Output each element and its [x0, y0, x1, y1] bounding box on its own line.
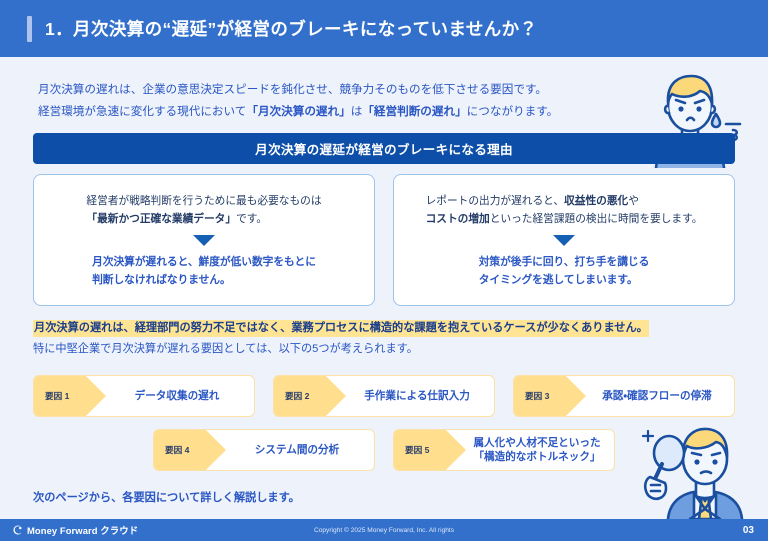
factor-label-2: 手作業による仕訳入力: [346, 389, 494, 403]
factor-item-2[interactable]: 要因 2 手作業による仕訳入力: [273, 375, 495, 417]
factor-badge-label-1: 要因 1: [45, 390, 69, 402]
page-number: 03: [743, 525, 754, 536]
man-with-magnifying-glass-illustration: [634, 415, 760, 519]
factor-item-3[interactable]: 要因 3 承認・確認フローの停滞: [513, 375, 735, 417]
reason-card-right-emphasis-1: 収益性の悪化: [564, 195, 628, 207]
reason-card-left: 経営者が戦略判断を行うために最も必要なものは 「最新かつ正確な業績データ」です。…: [33, 174, 375, 306]
reason-card-right-top: レポートの出力が遅れると、収益性の悪化や コストの増加といった経営課題の検出に時…: [426, 192, 703, 228]
factor-badge-label-3: 要因 3: [525, 390, 549, 402]
factor-item-4[interactable]: 要因 4 システム間の分析: [153, 429, 375, 471]
reason-card-right-bottom: 対策が後手に回り、打ち手を講じる タイミングを逃してしまいます。: [479, 253, 650, 289]
reason-card-right: レポートの出力が遅れると、収益性の悪化や コストの増加といった経営課題の検出に時…: [393, 174, 735, 306]
reason-card-left-bottom: 月次決算が遅れると、鮮度が低い数字をもとに 判断しなければなりません。: [92, 253, 316, 289]
factor-row-2: 要因 4 システム間の分析 要因 5 属人化や人材不足といった 「構造的なボトル…: [153, 429, 615, 471]
reason-card-left-top: 経営者が戦略判断を行うために最も必要なものは 「最新かつ正確な業績データ」です。: [86, 192, 321, 228]
factor-badge-label-5: 要因 5: [405, 444, 429, 456]
footer-copyright: Copyright © 2025 Money Forward, Inc. All…: [0, 527, 768, 534]
lead-highlight-wrap: 月次決算の遅れは、経理部門の努力不足ではなく、業務プロセスに構造的な課題を抱えて…: [33, 318, 649, 337]
intro-line-2-text-e: につながります。: [467, 105, 559, 118]
reason-card-right-bottom-line2: タイミングを逃してしまいます。: [479, 271, 650, 289]
reason-card-left-top-line2-tail: です。: [236, 213, 267, 225]
reason-card-left-top-line2: 「最新かつ正確な業績データ」です。: [86, 210, 321, 228]
factor-badge-label-4: 要因 4: [165, 444, 189, 456]
closing-note: 次のページから、各要因について詳しく解説します。: [33, 489, 300, 505]
reason-card-right-top-line2-tail: といった経営課題の検出に時間を要します。: [490, 213, 703, 225]
slide: 1．月次決算の“遅延”が経営のブレーキになっていませんか？ 月次決算の遅れは、企…: [0, 0, 768, 541]
factor-item-1[interactable]: 要因 1 データ収集の遅れ: [33, 375, 255, 417]
slide-header: 1．月次決算の“遅延”が経営のブレーキになっていませんか？: [0, 0, 768, 57]
factor-row-1: 要因 1 データ収集の遅れ 要因 2 手作業による仕訳入力 要因 3 承認・確認…: [33, 375, 735, 417]
slide-body: 月次決算の遅れは、企業の意思決定スピードを鈍化させ、競争力そのものを低下させる要…: [0, 57, 768, 519]
reason-card-left-top-line1: 経営者が戦略判断を行うために最も必要なものは: [86, 192, 321, 210]
reason-card-left-bottom-line1: 月次決算が遅れると、鮮度が低い数字をもとに: [92, 253, 316, 271]
factor-badge-5: 要因 5: [394, 430, 466, 470]
intro-line-2-text-c: は: [351, 105, 363, 118]
reason-card-right-top-line1: レポートの出力が遅れると、収益性の悪化や: [426, 192, 703, 210]
factor-item-5[interactable]: 要因 5 属人化や人材不足といった 「構造的なボトルネック」: [393, 429, 615, 471]
reason-banner-label: 月次決算の遅延が経営のブレーキになる理由: [255, 139, 513, 158]
factor-label-4: システム間の分析: [226, 443, 374, 457]
reason-card-right-top-line2: コストの増加といった経営課題の検出に時間を要します。: [426, 210, 703, 228]
intro-emphasis-1: 「月次決算の遅れ」: [246, 105, 350, 118]
page-title: 1．月次決算の“遅延”が経営のブレーキになっていませんか？: [45, 16, 537, 41]
down-triangle-icon: [193, 235, 215, 246]
reason-card-right-bottom-line1: 対策が後手に回り、打ち手を講じる: [479, 253, 650, 271]
factor-badge-label-2: 要因 2: [285, 390, 309, 402]
factor-badge-1: 要因 1: [34, 376, 106, 416]
factor-badge-4: 要因 4: [154, 430, 226, 470]
intro-line-1: 月次決算の遅れは、企業の意思決定スピードを鈍化させ、競争力そのものを低下させる要…: [38, 79, 558, 101]
down-triangle-icon: [553, 235, 575, 246]
lead-highlighted-sentence: 月次決算の遅れは、経理部門の努力不足ではなく、業務プロセスに構造的な課題を抱えて…: [33, 320, 649, 337]
reason-card-right-top-line1-head: レポートの出力が遅れると、: [426, 195, 565, 207]
factor-badge-3: 要因 3: [514, 376, 586, 416]
intro-paragraph: 月次決算の遅れは、企業の意思決定スピードを鈍化させ、競争力そのものを低下させる要…: [38, 79, 558, 123]
factor-badge-2: 要因 2: [274, 376, 346, 416]
intro-emphasis-2: 「経営判断の遅れ」: [362, 105, 466, 118]
intro-line-2: 経営環境が急速に変化する現代において「月次決算の遅れ」は「経営判断の遅れ」につな…: [38, 101, 558, 123]
factor-label-5: 属人化や人材不足といった 「構造的なボトルネック」: [466, 436, 614, 464]
reason-card-right-top-line1-tail: や: [628, 195, 639, 207]
reason-cards: 経営者が戦略判断を行うために最も必要なものは 「最新かつ正確な業績データ」です。…: [33, 174, 735, 306]
factor-label-3: 承認・確認フローの停滞: [586, 389, 734, 403]
intro-line-1-text: 月次決算の遅れは、企業の意思決定スピードを鈍化させ、競争力そのものを低下させる要…: [38, 83, 547, 96]
intro-line-2-text-a: 経営環境が急速に変化する現代において: [38, 105, 246, 118]
header-accent-bar: [27, 16, 32, 42]
slide-footer: Money Forward クラウド Copyright © 2025 Mone…: [0, 519, 768, 541]
reason-card-left-bottom-line2: 判断しなければなりません。: [92, 271, 316, 289]
reason-card-right-emphasis-2: コストの増加: [426, 213, 490, 225]
lead-sub-sentence: 特に中堅企業で月次決算が遅れる要因としては、以下の5つが考えられます。: [33, 341, 649, 358]
reason-banner: 月次決算の遅延が経営のブレーキになる理由: [33, 133, 735, 164]
lead-in-text: 月次決算の遅れは、経理部門の努力不足ではなく、業務プロセスに構造的な課題を抱えて…: [33, 318, 649, 358]
factor-label-1: データ収集の遅れ: [106, 389, 254, 403]
reason-card-left-emphasis: 「最新かつ正確な業績データ」: [86, 213, 236, 225]
